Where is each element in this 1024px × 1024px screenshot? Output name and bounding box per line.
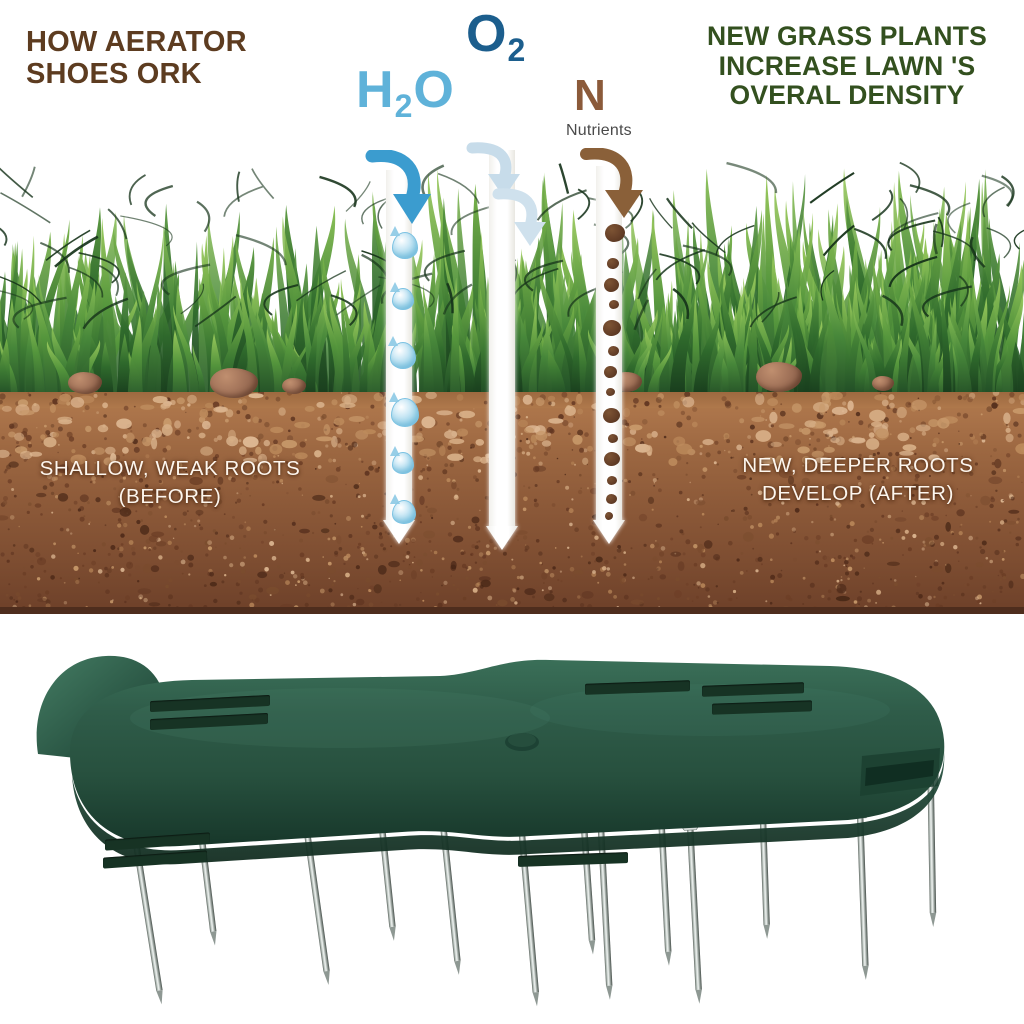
soil-speck — [811, 521, 813, 523]
water-droplet — [392, 452, 414, 474]
soil-speck — [652, 473, 655, 476]
soil-speck — [173, 538, 174, 539]
soil-speck — [633, 398, 639, 404]
soil-speck — [89, 568, 93, 572]
soil-speck — [850, 555, 853, 558]
soil-speck — [352, 442, 358, 448]
soil-speck — [385, 531, 388, 534]
soil-speck — [486, 544, 490, 548]
soil-speck — [958, 561, 959, 562]
soil-speck — [890, 537, 893, 540]
soil-clod — [349, 416, 365, 422]
soil-speck — [305, 439, 307, 441]
label-o2: O2 — [466, 8, 526, 66]
soil-speck — [331, 602, 335, 606]
soil-speck — [577, 595, 580, 598]
soil-speck — [526, 440, 530, 444]
soil-speck — [236, 410, 240, 414]
grass-wisp — [560, 164, 568, 194]
page-title-left: HOW AERATOR SHOES ORK — [26, 26, 336, 91]
soil-speck — [423, 553, 427, 557]
soil-speck — [232, 516, 235, 519]
soil-speck — [456, 518, 458, 520]
soil-speck — [370, 405, 374, 409]
soil-speck — [1002, 550, 1004, 552]
spike-tip — [389, 927, 397, 942]
soil-speck — [882, 542, 884, 544]
soil-speck — [58, 444, 60, 446]
soil-pebble — [648, 497, 654, 504]
soil-pebble — [541, 572, 547, 579]
soil-speck — [406, 551, 410, 555]
soil-speck — [521, 433, 523, 435]
soil-speck — [809, 438, 811, 440]
soil-pebble — [825, 556, 831, 562]
soil-speck — [503, 552, 507, 556]
soil-speck — [579, 474, 582, 477]
soil-speck — [470, 447, 472, 449]
soil-speck — [641, 438, 643, 440]
soil-pebble — [257, 572, 267, 579]
grass-wisp — [667, 198, 692, 228]
soil-clod — [59, 394, 71, 402]
soil-speck — [60, 577, 62, 579]
soil-speck — [755, 569, 758, 572]
soil-speck — [85, 405, 90, 410]
soil-speck — [138, 594, 143, 599]
soil-pebble — [37, 598, 48, 602]
soil-speck — [356, 565, 360, 569]
soil-speck — [380, 543, 384, 547]
soil-speck — [511, 559, 513, 561]
soil-speck — [592, 570, 596, 574]
soil-speck — [980, 549, 985, 554]
soil-speck — [848, 567, 853, 572]
soil-speck — [168, 541, 172, 545]
soil-speck — [340, 593, 343, 596]
soil-speck — [1009, 398, 1015, 404]
soil-speck — [835, 576, 837, 578]
soil-speck — [894, 579, 897, 582]
soil-speck — [842, 401, 846, 405]
soil-speck — [261, 541, 264, 544]
soil-speck — [998, 529, 1001, 532]
soil-clod — [476, 439, 485, 446]
soil-speck — [633, 405, 636, 408]
soil-speck — [148, 511, 153, 516]
soil-speck — [525, 549, 528, 552]
soil-speck — [108, 553, 111, 556]
soil-pebble — [497, 600, 507, 607]
soil-speck — [349, 595, 354, 600]
soil-speck — [760, 415, 762, 417]
soil-clod — [832, 407, 848, 415]
soil-speck — [243, 535, 246, 538]
soil-speck — [51, 554, 55, 558]
soil-speck — [448, 532, 452, 536]
soil-speck — [761, 563, 763, 565]
soil-speck — [430, 569, 435, 574]
soil-speck — [770, 580, 774, 584]
soil-speck — [148, 548, 151, 551]
soil-speck — [902, 536, 906, 540]
soil-speck — [740, 571, 744, 575]
soil-speck — [621, 419, 627, 425]
soil-speck — [867, 599, 871, 603]
soil-speck — [930, 513, 933, 516]
soil-speck — [158, 555, 162, 559]
soil-speck — [696, 596, 699, 599]
soil-speck — [676, 577, 680, 581]
soil-clod — [676, 444, 692, 455]
soil-pebble — [479, 576, 491, 581]
soil-speck — [187, 403, 190, 406]
soil-speck — [1017, 518, 1020, 521]
soil-speck — [562, 392, 568, 398]
soil-speck — [277, 565, 280, 568]
soil-pebble — [535, 466, 547, 472]
soil-speck — [36, 427, 37, 428]
soil-speck — [187, 436, 190, 439]
soil-speck — [143, 423, 147, 427]
soil-speck — [215, 546, 217, 548]
soil-speck — [935, 395, 941, 401]
soil-speck — [588, 561, 591, 564]
soil-speck — [64, 582, 66, 584]
soil-pebble — [1007, 521, 1016, 525]
soil-clod — [98, 425, 109, 432]
soil-speck — [279, 574, 284, 579]
grass-wisp — [0, 193, 50, 223]
soil-clod — [0, 450, 10, 458]
soil-speck — [434, 551, 438, 555]
screenshot-root: HOW AERATOR SHOES ORK NEW GRASS PLANTS I… — [0, 0, 1024, 1024]
soil-speck — [403, 554, 405, 556]
soil-clod — [316, 402, 324, 408]
soil-speck — [653, 485, 655, 487]
soil-speck — [1016, 543, 1019, 546]
soil-speck — [795, 508, 800, 513]
soil-speck — [58, 427, 63, 432]
soil-speck — [867, 531, 869, 533]
soil-speck — [98, 569, 103, 574]
soil-speck — [153, 547, 156, 550]
soil-speck — [295, 584, 297, 586]
soil-clod — [174, 420, 181, 428]
soil-speck — [0, 400, 3, 405]
soil-speck — [708, 595, 711, 598]
soil-speck — [318, 511, 321, 514]
soil-speck — [934, 535, 939, 540]
soil-speck — [479, 510, 481, 512]
soil-pebble — [704, 540, 713, 549]
soil-speck — [475, 526, 480, 531]
soil-speck — [819, 550, 821, 552]
soil-speck — [526, 438, 528, 440]
soil-speck — [539, 462, 543, 466]
soil-speck — [175, 560, 180, 565]
soil-speck — [692, 422, 698, 428]
soil-speck — [136, 520, 140, 524]
soil-clod — [702, 439, 713, 445]
soil-clod — [151, 437, 157, 449]
soil-speck — [229, 563, 233, 567]
soil-speck — [365, 516, 368, 519]
grass-wisp — [727, 163, 776, 193]
soil-speck — [624, 595, 629, 600]
soil-speck — [517, 576, 520, 579]
soil-speck — [938, 433, 940, 435]
soil-speck — [686, 416, 691, 421]
soil-speck — [456, 588, 459, 591]
soil-speck — [134, 447, 140, 453]
soil-speck — [880, 392, 882, 394]
soil-clod — [228, 430, 236, 442]
soil-pebble — [596, 557, 603, 563]
soil-pebble — [368, 466, 374, 471]
soil-speck — [587, 446, 593, 452]
soil-speck — [422, 600, 424, 602]
soil-clod — [823, 429, 838, 435]
soil-speck — [830, 517, 834, 521]
soil-speck — [346, 516, 351, 521]
spike-tip — [695, 990, 702, 1004]
soil-speck — [654, 482, 655, 483]
soil-speck — [692, 600, 694, 602]
soil-speck — [57, 452, 58, 453]
soil-speck — [999, 586, 1003, 590]
grass-wisp — [252, 169, 274, 199]
soil-speck — [225, 419, 229, 423]
soil-speck — [679, 491, 683, 495]
soil-clod — [151, 429, 162, 438]
soil-speck — [465, 577, 468, 580]
soil-speck — [792, 527, 796, 531]
soil-speck — [8, 583, 10, 585]
soil-clod — [815, 422, 826, 429]
soil-speck — [78, 578, 80, 580]
soil-speck — [523, 508, 527, 512]
soil-speck — [994, 550, 999, 555]
soil-speck — [733, 590, 736, 593]
water-droplet — [392, 232, 418, 259]
soil-speck — [568, 422, 573, 427]
soil-speck — [579, 448, 584, 453]
soil-clod — [334, 418, 345, 426]
soil-speck — [569, 523, 573, 527]
soil-clod — [305, 406, 315, 412]
soil-speck — [964, 583, 967, 586]
soil-speck — [1000, 591, 1003, 594]
soil-speck — [450, 575, 452, 577]
soil-speck — [928, 596, 932, 600]
soil-speck — [961, 593, 965, 597]
soil-speck — [761, 409, 765, 413]
soil-speck — [5, 469, 8, 472]
soil-clod — [874, 394, 887, 400]
soil-speck — [359, 422, 361, 424]
soil-speck — [992, 591, 994, 593]
soil-speck — [444, 600, 448, 604]
soil-speck — [366, 558, 368, 560]
soil-speck — [910, 427, 916, 433]
soil-speck — [841, 576, 843, 578]
soil-speck — [3, 496, 8, 501]
soil-speck — [426, 464, 428, 466]
soil-speck — [531, 403, 534, 406]
soil-speck — [613, 595, 617, 599]
soil-clod — [71, 397, 85, 408]
soil-clod — [916, 424, 931, 431]
soil-speck — [953, 545, 957, 549]
soil-speck — [594, 536, 598, 540]
soil-pebble — [713, 554, 720, 560]
soil-speck — [1002, 558, 1005, 561]
nutrient-arrow-icon — [574, 148, 652, 222]
spike-tip — [763, 925, 770, 939]
soil-speck — [199, 524, 201, 526]
soil-speck — [804, 536, 808, 540]
soil-pebble — [472, 517, 480, 524]
soil-speck — [473, 408, 474, 409]
soil-speck — [382, 505, 384, 507]
soil-speck — [969, 576, 973, 580]
soil-clod — [1013, 408, 1024, 414]
spike-tip — [454, 961, 462, 976]
soil-speck — [442, 557, 445, 560]
soil-speck — [614, 556, 617, 559]
soil-speck — [1, 436, 5, 440]
soil-speck — [128, 573, 131, 576]
soil-speck — [365, 471, 370, 476]
soil-speck — [771, 424, 774, 427]
soil-speck — [117, 523, 121, 527]
soil-speck — [444, 463, 448, 467]
soil-speck — [687, 597, 690, 600]
soil-speck — [1009, 392, 1014, 397]
soil-speck — [745, 511, 749, 515]
soil-speck — [781, 570, 783, 572]
soil-speck — [73, 566, 78, 571]
caption-shallow-weak-roots: SHALLOW, WEAK ROOTS (BEFORE) — [10, 455, 330, 510]
soil-speck — [104, 393, 107, 396]
soil-speck — [328, 562, 332, 566]
soil-pebble — [895, 517, 907, 522]
soil-speck — [135, 565, 140, 570]
soil-speck — [647, 433, 652, 438]
soil-speck — [581, 556, 583, 558]
soil-pebble — [372, 525, 377, 530]
soil-speck — [526, 452, 530, 456]
soil-clod — [270, 427, 283, 433]
soil-speck — [51, 512, 53, 514]
soil-speck — [341, 392, 342, 393]
soil-speck — [199, 527, 203, 531]
soil-speck — [986, 406, 992, 412]
soil-speck — [0, 393, 6, 399]
soil-speck — [583, 448, 587, 452]
soil-clod — [866, 438, 879, 450]
soil-speck — [888, 515, 892, 519]
soil-speck — [846, 558, 849, 561]
soil-speck — [243, 556, 246, 559]
soil-speck — [346, 554, 350, 558]
soil-speck — [330, 514, 333, 517]
soil-speck — [733, 580, 736, 583]
soil-pebble — [639, 514, 647, 521]
soil-clod — [316, 436, 333, 441]
soil-speck — [933, 403, 935, 405]
soil-speck — [608, 590, 612, 594]
soil-clod — [623, 437, 636, 446]
soil-clod — [142, 437, 152, 446]
soil-speck — [631, 547, 633, 549]
soil-speck — [606, 572, 611, 577]
soil-speck — [466, 567, 469, 570]
aeration-infographic-panel: HOW AERATOR SHOES ORK NEW GRASS PLANTS I… — [0, 0, 1024, 614]
soil-speck — [419, 428, 422, 431]
soil-clod — [177, 397, 185, 404]
soil-clod — [1006, 434, 1014, 443]
soil-clod — [756, 430, 772, 442]
soil-speck — [44, 570, 47, 573]
soil-speck — [896, 529, 901, 534]
soil-speck — [273, 440, 278, 445]
soil-speck — [85, 426, 91, 432]
soil-speck — [894, 582, 898, 586]
soil-speck — [548, 586, 552, 590]
soil-clod — [205, 403, 213, 408]
soil-speck — [810, 432, 814, 436]
soil-speck — [41, 441, 43, 443]
o2-subscript: 2 — [507, 32, 526, 68]
soil-pebble — [321, 528, 330, 533]
soil-pebble — [427, 508, 437, 514]
soil-speck — [965, 566, 968, 569]
soil-speck — [361, 547, 365, 551]
soil-speck — [1016, 521, 1019, 524]
soil-speck — [134, 406, 136, 408]
soil-speck — [436, 592, 439, 595]
soil-speck — [632, 577, 635, 580]
soil-speck — [484, 401, 488, 405]
soil-speck — [140, 519, 143, 522]
soil-clod — [270, 444, 283, 455]
soil-speck — [475, 583, 479, 587]
soil-pebble — [374, 584, 382, 593]
soil-speck — [322, 556, 324, 558]
label-nitrogen: N — [574, 74, 606, 118]
soil-speck — [567, 547, 569, 549]
soil-speck — [102, 542, 106, 546]
soil-speck — [848, 421, 850, 423]
soil-speck — [406, 555, 410, 559]
soil-speck — [312, 532, 314, 534]
soil-clod — [1015, 443, 1024, 454]
soil-speck — [293, 520, 295, 522]
soil-speck — [522, 451, 525, 454]
soil-speck — [468, 526, 471, 529]
soil-speck — [165, 585, 169, 589]
soil-speck — [27, 511, 30, 514]
soil-speck — [209, 572, 214, 577]
soil-speck — [3, 501, 8, 506]
soil-speck — [924, 512, 929, 517]
soil-speck — [443, 581, 447, 585]
soil-speck — [361, 526, 363, 528]
soil-pebble — [932, 566, 943, 572]
soil-clod — [801, 428, 810, 435]
